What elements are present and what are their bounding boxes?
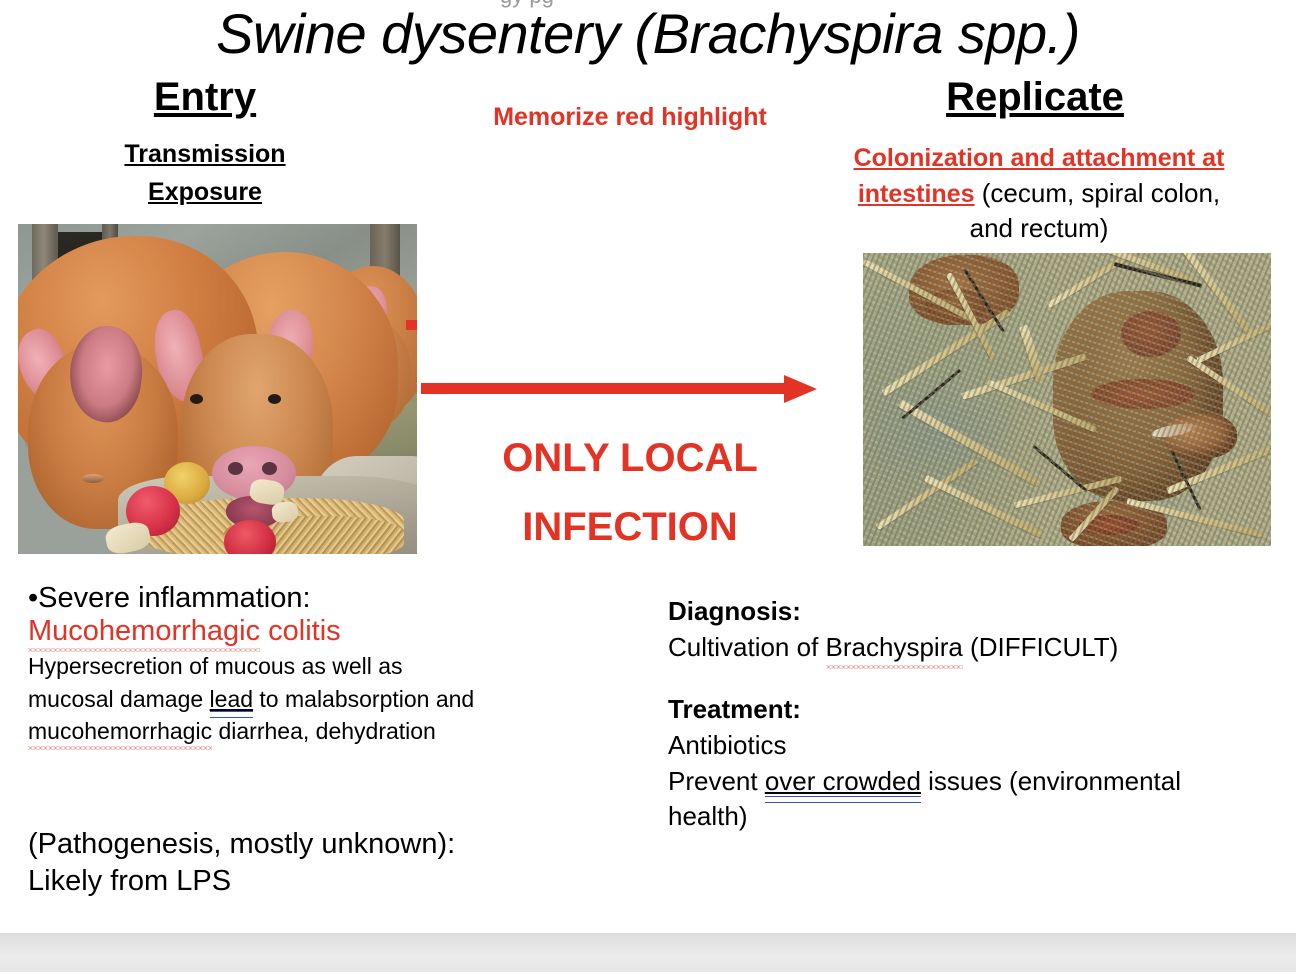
section-gap (668, 666, 1278, 692)
pathogenesis-line-1: (Pathogenesis, mostly unknown): (28, 826, 588, 863)
diagnosis-pre: Cultivation of (668, 632, 826, 662)
pig-middle-eye-right (268, 394, 281, 404)
treatment-line-3: health) (668, 799, 1278, 835)
replicate-subheadings: Colonization and attachment at intestine… (816, 141, 1262, 247)
pig-left-eye (82, 474, 104, 483)
diagnosis-value: Cultivation of Brachyspira (DIFFICULT) (668, 630, 1278, 666)
right-arrow-icon (421, 383, 787, 394)
detail-line-2-pre: mucosal damage (28, 686, 210, 712)
replicate-header: Replicate (880, 76, 1190, 118)
replicate-black-tail1: (cecum, spiral colon, (975, 178, 1221, 208)
bedding-grit-texture (863, 253, 1271, 546)
severe-inflammation-bullet: •Severe inflammation: (28, 582, 588, 614)
memorize-note: Memorize red highlight (400, 103, 860, 132)
pigs-eating-at-trough-photo (18, 224, 417, 554)
replicate-red-line1: Colonization and attachment at (854, 144, 1225, 172)
only-local-line1: ONLY LOCAL (430, 424, 830, 493)
mucohemorrhagic-colitis-line: Mucohemorrhagic colitis (28, 614, 341, 649)
mucohemorrhagic-spellcheck-word-2: mucohemorrhagic (28, 716, 212, 747)
entry-subheadings: Transmission Exposure (70, 135, 340, 211)
replicate-red-line2: intestines (858, 180, 975, 208)
entry-sub-exposure: Exposure (148, 178, 262, 206)
treatment-label: Treatment: (668, 692, 1278, 728)
treatment-line-2-pre: Prevent (668, 766, 765, 796)
replicate-black-tail2: and rectum) (970, 213, 1109, 243)
only-local-line2: INFECTION (430, 493, 830, 562)
colitis-word: colitis (260, 615, 341, 647)
brachyspira-spellcheck-word: Brachyspira (826, 630, 963, 666)
diagnosis-label: Diagnosis: (668, 594, 1278, 630)
treatment-line-1: Antibiotics (668, 728, 1278, 764)
bottom-window-bar (0, 933, 1296, 972)
entry-header: Entry (110, 76, 300, 118)
right-body-text: Diagnosis: Cultivation of Brachyspira (D… (668, 594, 1278, 835)
replicate-header-label: Replicate (946, 75, 1124, 119)
only-local-infection-label: ONLY LOCAL INFECTION (430, 424, 830, 562)
slide-canvas: gy pg Swine dysentery (Brachyspira spp.)… (0, 0, 1296, 933)
treatment-line-2: Prevent over crowded issues (environment… (668, 764, 1278, 800)
pig-middle-nostril-left (228, 462, 243, 475)
mucohemorrhagic-spellcheck-word: Mucohemorrhagic (28, 614, 260, 649)
pathogenesis-line-2: Likely from LPS (28, 863, 588, 900)
pathogenesis-text: (Pathogenesis, mostly unknown): Likely f… (28, 826, 588, 900)
over-crowded-grammar-phrase: over crowded (765, 764, 921, 800)
detail-line-2: mucosal damage lead to malabsorption and (28, 684, 588, 715)
detail-line-3-post: diarrhea, dehydration (212, 718, 436, 744)
arrow-tip-overlap-speck (406, 320, 417, 330)
treatment-line-2-post: issues (environmental (921, 766, 1181, 796)
right-arrow-head-icon (784, 375, 817, 403)
detail-line-2-post: to malabsorption and (253, 686, 474, 712)
page-title: Swine dysentery (Brachyspira spp.) (0, 6, 1296, 62)
detail-line-1: Hypersecretion of mucous as well as (28, 651, 588, 682)
mucohemorrhagic-diarrhea-on-straw-photo (863, 253, 1271, 546)
pig-middle-nostril-right (262, 462, 277, 475)
entry-header-label: Entry (154, 75, 256, 119)
diagnosis-post: (DIFFICULT) (963, 632, 1119, 662)
entry-sub-transmission: Transmission (124, 140, 285, 168)
pig-middle-eye-left (190, 394, 203, 404)
lead-grammar-word: lead (210, 684, 253, 715)
detail-line-3: mucohemorrhagic diarrhea, dehydration (28, 716, 588, 747)
left-body-text: •Severe inflammation: Mucohemorrhagic co… (28, 582, 588, 747)
